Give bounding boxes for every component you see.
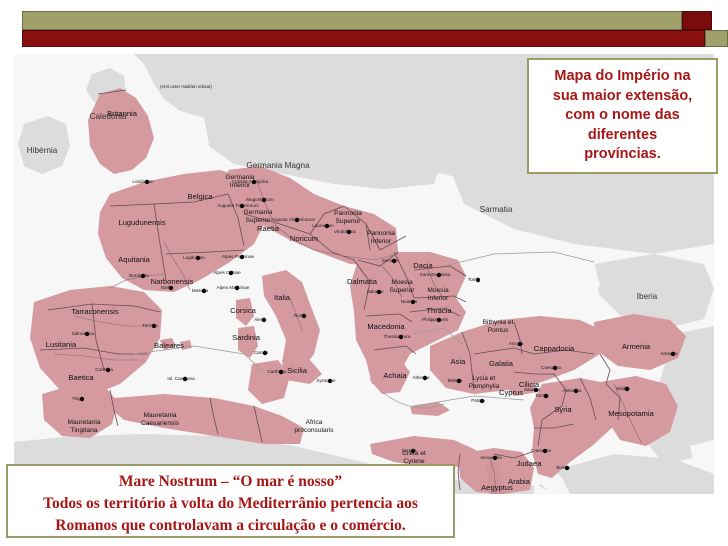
city-label: Patara xyxy=(471,398,485,403)
city-label: Bostra xyxy=(556,465,570,470)
city-label: Antiochia xyxy=(563,388,582,393)
province-label: Lusitania xyxy=(46,340,77,349)
province-label: Raetia xyxy=(257,224,280,233)
city-label: Caralis xyxy=(254,350,269,355)
province-label: Superior xyxy=(246,217,272,224)
hadrian-wall-note: (erst unter Hadrian erbaut) xyxy=(160,84,212,89)
province-label: Moesia xyxy=(391,279,413,286)
province-label: Judaea xyxy=(517,459,543,468)
province-label: Sicilia xyxy=(287,366,308,375)
city-label: Lauriacum xyxy=(312,223,334,228)
province-label: Baetica xyxy=(68,373,94,382)
province-label: Tingitana xyxy=(71,427,98,434)
province-label: Africa xyxy=(306,419,323,426)
province-label: Sardinia xyxy=(232,333,261,342)
callout-line: sua maior extensão, xyxy=(535,87,710,107)
province-label: Germania xyxy=(244,209,273,216)
province-label: Bithynia et xyxy=(483,319,514,326)
city-label: Thessalonica xyxy=(383,334,411,339)
city-label: Lugdunum xyxy=(183,255,205,260)
province-label: Pamphylia xyxy=(469,383,500,390)
province-label: Superior xyxy=(390,287,416,294)
header-decoration xyxy=(0,0,728,52)
province-label: Syria xyxy=(554,405,572,414)
city-label: Tarraco xyxy=(142,323,158,328)
callout-map-description: Mapa do Império na sua maior extensão, c… xyxy=(527,58,718,174)
province-label: Asia xyxy=(451,357,467,366)
city-label: Alpes Maritimae xyxy=(217,285,250,290)
city-label: Nisibis xyxy=(616,386,630,391)
province-label: Moesia xyxy=(427,287,449,294)
province-label: Cappadocia xyxy=(534,344,575,353)
callout-line: diferentes xyxy=(535,126,710,146)
city-label: Vindobona xyxy=(334,229,356,234)
province-label: Superior xyxy=(336,218,362,225)
province-label: Britannia xyxy=(107,109,138,118)
city-label: Salmantica xyxy=(72,331,95,336)
province-label: Tarraconensis xyxy=(71,307,118,316)
city-label: Corduba xyxy=(95,367,113,372)
city-label: Syracuse xyxy=(316,378,336,383)
city-label: Augusta Treverorum xyxy=(217,203,259,208)
outside-region-label: Hibérnia xyxy=(27,146,58,155)
province-label: Mauretania xyxy=(144,412,177,419)
province-label: Aquitania xyxy=(118,255,150,264)
callout-line: Todos os território à volta do Mediterrâ… xyxy=(12,493,449,515)
city-label: Athenae xyxy=(412,375,430,380)
callout-line: províncias. xyxy=(535,145,710,165)
province-label: Lugudunensis xyxy=(118,218,165,227)
province-label: Dalmatia xyxy=(347,277,378,286)
province-label: Galatia xyxy=(489,359,514,368)
province-label: Pannonia xyxy=(367,230,395,237)
city-label: Narbo xyxy=(161,285,174,290)
province-label: Baleares xyxy=(154,341,184,350)
city-label: Mogontiacum xyxy=(246,197,274,202)
province-label: Corsica xyxy=(230,306,257,315)
city-label: Philippopolis xyxy=(422,317,448,322)
header-olive-cap xyxy=(705,30,728,47)
province-label: proconsularis xyxy=(294,427,334,434)
callout-mare-nostrum: Mare Nostrum – “O mar é nosso” Todos os … xyxy=(6,464,455,538)
province-label: Noricum xyxy=(290,234,318,243)
city-label: Ancyra xyxy=(509,341,524,346)
city-label: Sarmizegetusa xyxy=(420,272,451,277)
city-label: Colonia Agrippina xyxy=(232,179,268,184)
city-label: Augusta Vindelicorum xyxy=(271,217,316,222)
city-label: Caesarea xyxy=(531,448,551,453)
city-label: Tingis xyxy=(72,396,85,401)
province-label: Cyprus xyxy=(499,388,523,397)
city-label: Iol. Caesarea xyxy=(167,376,195,381)
city-label: Aleria xyxy=(254,317,266,322)
city-label: Salonae xyxy=(367,289,384,294)
city-label: Cyrene xyxy=(402,448,417,453)
city-label: Miletus xyxy=(448,378,463,383)
province-label: Armenia xyxy=(622,342,651,351)
province-label: Pannonia xyxy=(334,210,362,217)
city-label: Roma xyxy=(294,313,307,318)
city-label: Carthago xyxy=(268,369,287,374)
city-label: Alpes Poeninae xyxy=(222,254,255,259)
province-label: Pontus xyxy=(488,327,509,334)
city-label: Naissus xyxy=(401,299,418,304)
province-label: Thracia xyxy=(426,306,452,315)
city-label: Burdigala xyxy=(129,273,149,278)
header-red-cap xyxy=(682,11,712,30)
outside-region-label: Iberia xyxy=(637,292,658,301)
outside-region-label: Sarmatia xyxy=(480,205,513,214)
city-label: Caesarea xyxy=(541,365,561,370)
callout-line: com o nome das xyxy=(535,106,710,126)
province-label: Belgica xyxy=(188,192,214,201)
city-label: Salamis xyxy=(524,387,541,392)
province-label: Inferior xyxy=(428,295,449,302)
city-label: Artaxata xyxy=(660,351,678,356)
city-label: Sirmium xyxy=(382,258,399,263)
province-label: Mauretania xyxy=(68,419,101,426)
city-label: Tarsus xyxy=(535,393,549,398)
province-label: Italia xyxy=(274,293,291,302)
header-olive-bar xyxy=(22,11,682,30)
city-label: Alexandria xyxy=(480,455,502,460)
province-label: Dacia xyxy=(413,261,433,270)
province-label: Achaia xyxy=(383,371,407,380)
province-label: Aegyptus xyxy=(481,483,513,492)
city-label: Alpes Cottiae xyxy=(213,270,241,275)
callout-line: Romanos que controlavam a circulação e o… xyxy=(12,515,449,537)
city-label: Tomis xyxy=(468,277,481,282)
city-label: Massilia xyxy=(192,288,209,293)
outside-region-label: Germania Magna xyxy=(246,161,310,170)
callout-line: Mare Nostrum – “O mar é nosso” xyxy=(12,471,449,493)
province-label: Mesopotamia xyxy=(608,409,654,418)
province-label: Lycia et xyxy=(473,375,496,382)
province-label: Inferior xyxy=(371,238,392,245)
header-red-bar xyxy=(22,30,705,47)
province-label: Caesariensis xyxy=(141,420,180,427)
callout-line: Mapa do Império na xyxy=(535,67,710,87)
slide-root: CaledoniaHibérniaGermania MagnaSarmatiaI… xyxy=(0,0,728,546)
province-label: Macedonia xyxy=(367,322,405,331)
city-label: Londinium xyxy=(132,179,153,184)
